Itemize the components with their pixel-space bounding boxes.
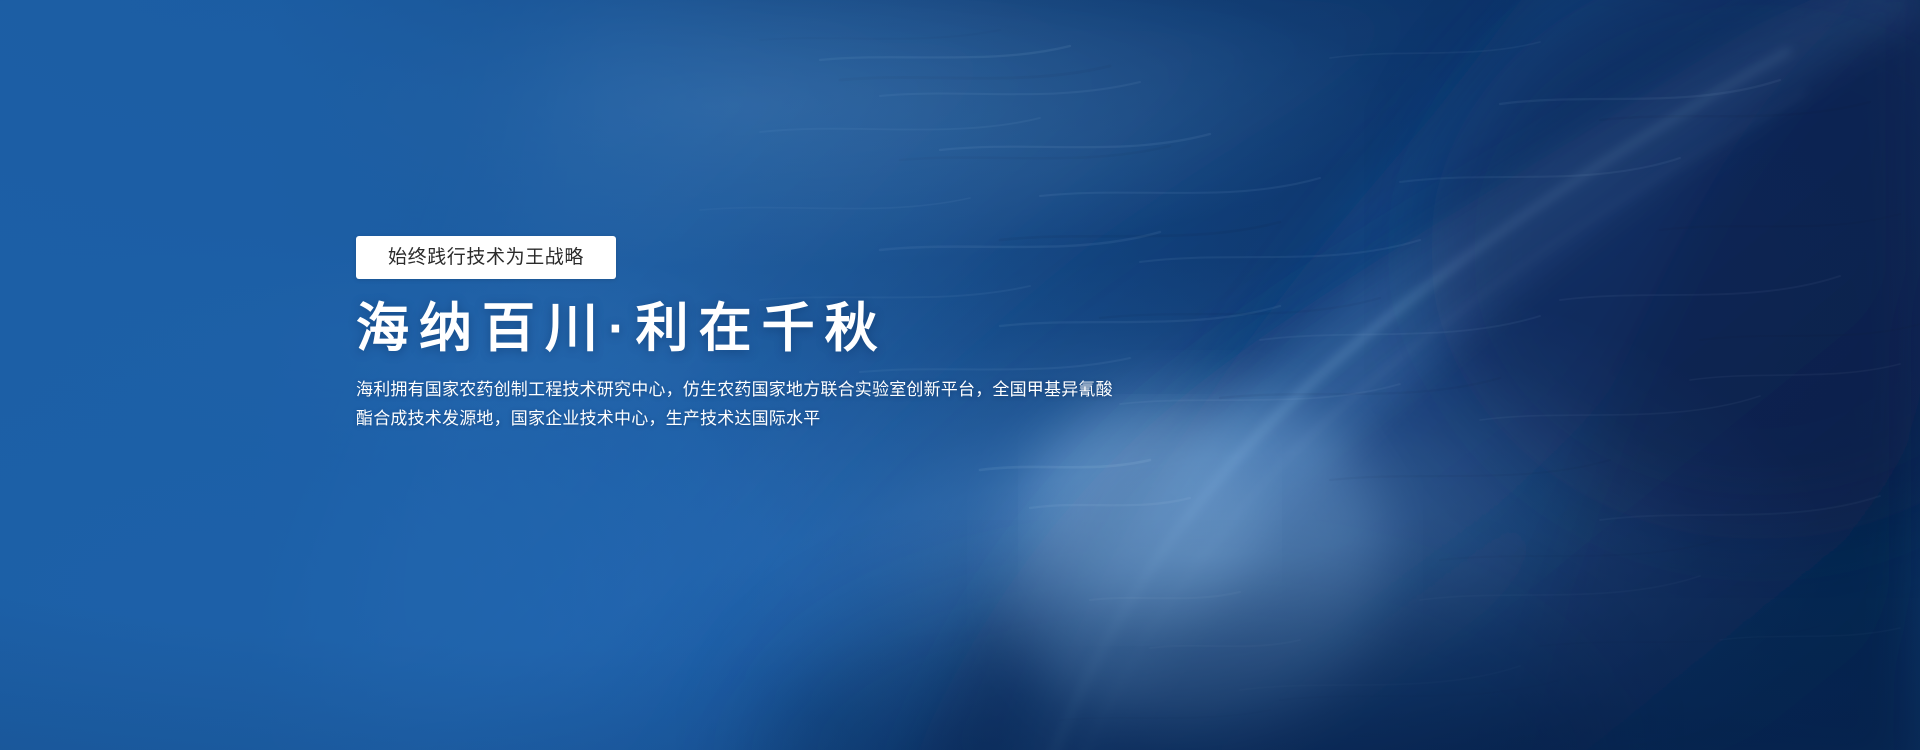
hero-content: 始终践行技术为王战略 海纳百川·利在千秋 海利拥有国家农药创制工程技术研究中心，… — [356, 236, 976, 433]
hero-title: 海纳百川·利在千秋 — [356, 299, 976, 358]
hero-description-line-1: 海利拥有国家农药创制工程技术研究中心，仿生农药国家地方联合实验室创新平台，全国甲… — [356, 375, 956, 404]
wave-barrel-foam-core — [1040, 415, 1260, 625]
eyebrow-badge-label: 始终践行技术为王战略 — [388, 248, 584, 267]
eyebrow-badge: 始终践行技术为王战略 — [356, 236, 616, 279]
hero-description: 海利拥有国家农药创制工程技术研究中心，仿生农药国家地方联合实验室创新平台，全国甲… — [356, 375, 956, 433]
hero-description-line-2: 酯合成技术发源地，国家企业技术中心，生产技术达国际水平 — [356, 404, 956, 433]
hero-banner: 始终践行技术为王战略 海纳百川·利在千秋 海利拥有国家农药创制工程技术研究中心，… — [0, 0, 1920, 750]
